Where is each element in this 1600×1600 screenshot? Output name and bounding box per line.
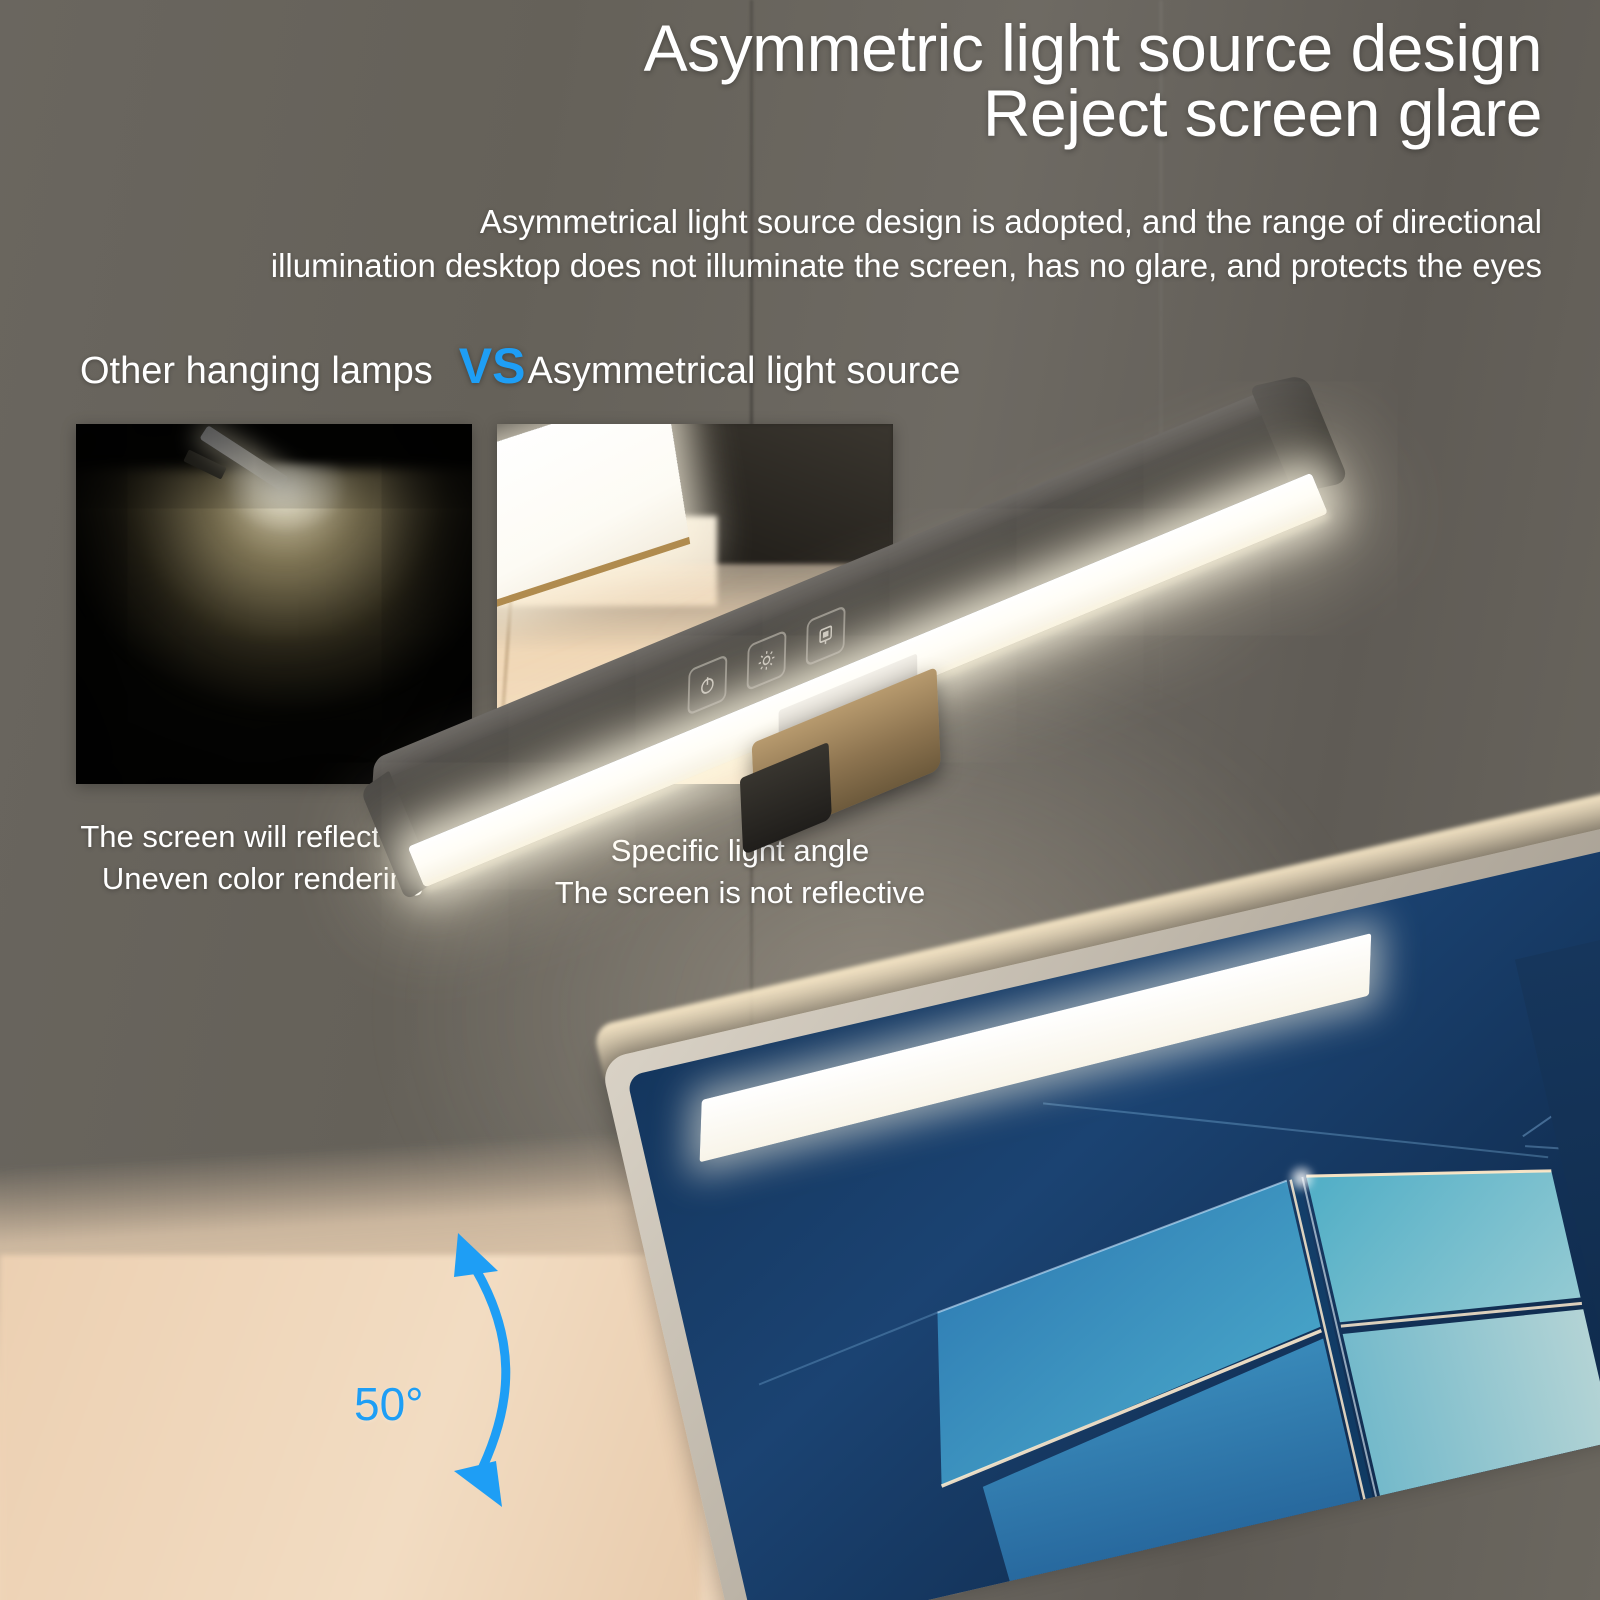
headline-line-2: Reject screen glare [282, 81, 1542, 146]
brightness-icon [757, 646, 776, 676]
comparison-vs-label: VS [459, 341, 526, 391]
angle-value-label: 50° [354, 1377, 424, 1431]
subheadline-line-1: Asymmetrical light source design is adop… [480, 203, 1542, 240]
color-temperature-icon [816, 621, 835, 651]
headline-line-1: Asymmetric light source design [644, 11, 1542, 85]
power-icon [698, 670, 717, 700]
comparison-label-right: Asymmetrical light source [527, 350, 960, 393]
comparison-label-left: Other hanging lamps [80, 350, 433, 393]
caption-left-line-2: Uneven color rendering [102, 861, 424, 896]
subheadline-line-2: illumination desktop does not illuminate… [271, 247, 1542, 284]
product-feature-banner: Asymmetric light source design Reject sc… [0, 0, 1600, 1600]
comparison-header: Other hanging lamps VS Asymmetrical ligh… [80, 341, 960, 393]
angle-arc-arrow-icon [330, 1225, 620, 1525]
angle-annotation: 50° [330, 1225, 620, 1525]
page-subtitle: Asymmetrical light source design is adop… [142, 200, 1542, 287]
page-title: Asymmetric light source design Reject sc… [282, 16, 1542, 145]
